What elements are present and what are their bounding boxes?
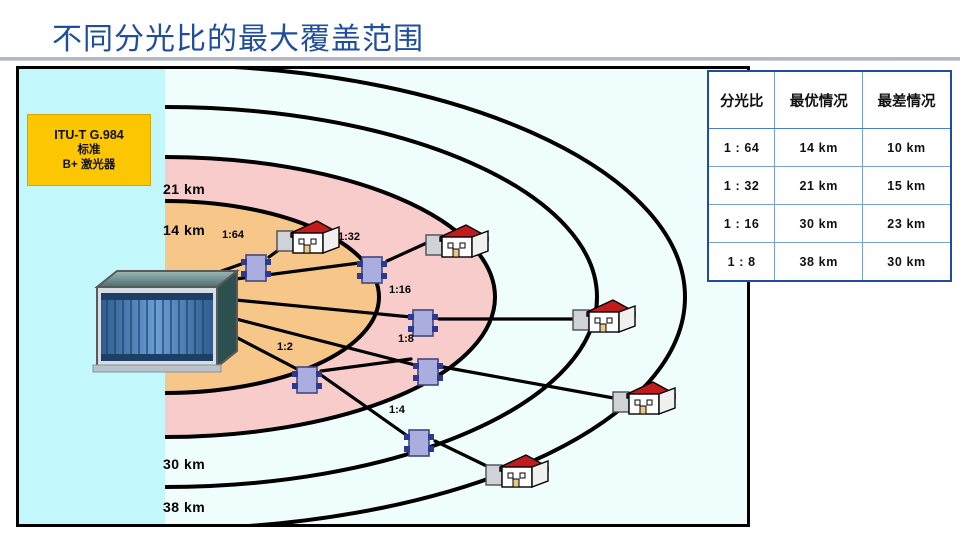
cell-worst: 30 km	[863, 243, 951, 282]
table-row: 1 : 64 14 km 10 km	[708, 129, 951, 167]
table-row: 1 : 32 21 km 15 km	[708, 167, 951, 205]
splitter-label-1-4: 1:4	[389, 404, 405, 416]
zone-label-21km: 21 km	[163, 181, 205, 197]
table-header-ratio: 分光比	[708, 71, 775, 129]
cell-worst: 23 km	[863, 205, 951, 243]
badge-line-laser: B+ 激光器	[63, 158, 116, 173]
table-row: 1 : 8 38 km 30 km	[708, 243, 951, 282]
table-row: 1 : 16 30 km 23 km	[708, 205, 951, 243]
cell-worst: 15 km	[863, 167, 951, 205]
zone-label-38km: 38 km	[163, 499, 205, 515]
cell-best: 14 km	[775, 129, 863, 167]
zone-label-30km: 30 km	[163, 456, 205, 472]
zone-label-14km: 14 km	[163, 222, 205, 238]
cell-ratio: 1 : 32	[708, 167, 775, 205]
cell-best: 38 km	[775, 243, 863, 282]
title-divider	[0, 57, 960, 61]
splitter-label-1-32: 1:32	[338, 231, 360, 243]
cell-best: 30 km	[775, 205, 863, 243]
olt-chassis	[93, 271, 237, 372]
itu-standard-badge: ITU-T G.984 标准 B+ 激光器	[27, 114, 151, 186]
cell-ratio: 1 : 16	[708, 205, 775, 243]
split-ratio-reach-table: 分光比 最优情况 最差情况 1 : 64 14 km 10 km 1 : 32 …	[707, 70, 952, 282]
cell-worst: 10 km	[863, 129, 951, 167]
badge-line-biaozhun: 标准	[78, 143, 101, 158]
cell-ratio: 1 : 8	[708, 243, 775, 282]
splitter-label-1-64: 1:64	[222, 229, 244, 241]
badge-line-standard: ITU-T G.984	[54, 127, 123, 144]
splitter-label-1-16: 1:16	[389, 284, 411, 296]
table-header-worst: 最差情况	[863, 71, 951, 129]
cell-best: 21 km	[775, 167, 863, 205]
cell-ratio: 1 : 64	[708, 129, 775, 167]
splitter-label-1-2: 1:2	[277, 341, 293, 353]
table-header-best: 最优情况	[775, 71, 863, 129]
page-title: 不同分光比的最大覆盖范围	[52, 14, 424, 58]
table-header-row: 分光比 最优情况 最差情况	[708, 71, 951, 129]
splitter-label-1-8: 1:8	[398, 333, 414, 345]
